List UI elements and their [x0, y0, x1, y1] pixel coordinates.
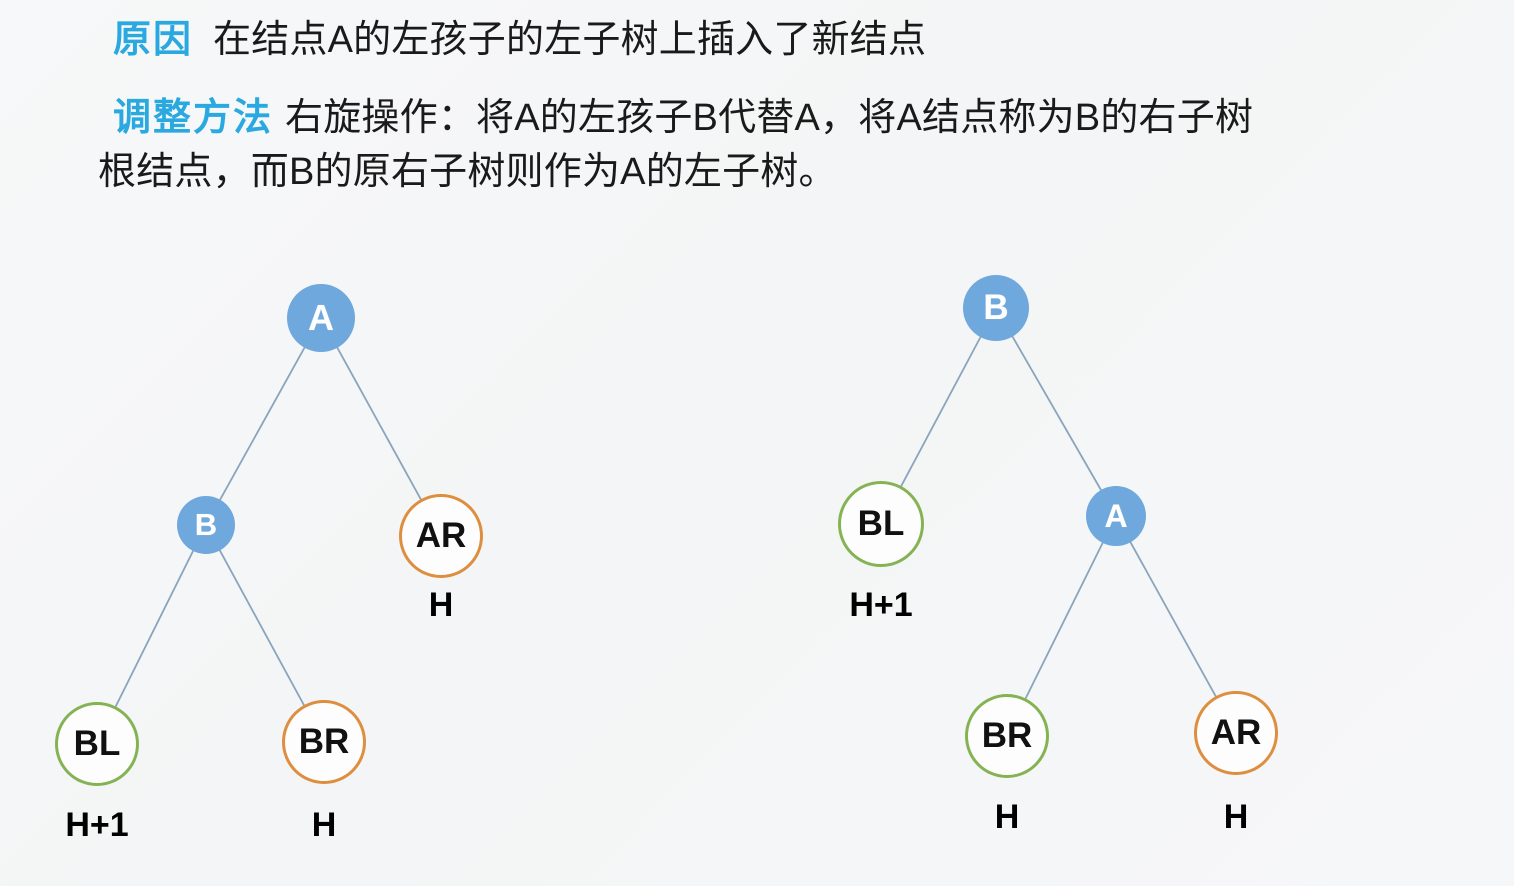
tree-edge [337, 347, 421, 500]
height-label: H+1 [65, 806, 128, 845]
height-label: H [1224, 798, 1249, 837]
tree-node-b[interactable]: B [963, 275, 1029, 341]
tree-node-label: BR [299, 722, 350, 762]
tree-edge [901, 336, 981, 487]
tree-node-bl[interactable]: BL [838, 481, 924, 567]
tree-edge [1025, 542, 1103, 699]
tree-edge [1012, 336, 1102, 491]
slide-text-block: 原因在结点A的左孩子的左子树上插入了新结点 调整方法右旋操作：将A的左孩子B代替… [0, 0, 1514, 215]
tree-node-a[interactable]: A [287, 284, 355, 352]
tree-node-label: B [983, 288, 1008, 328]
tree-node-label: AR [416, 516, 467, 556]
tree-node-label: BL [858, 504, 905, 544]
tree-node-b[interactable]: B [177, 496, 235, 554]
tree-edge [219, 550, 304, 706]
tree-node-label: B [195, 507, 217, 543]
tree-node-label: BR [982, 716, 1033, 756]
tree-node-label: BL [74, 724, 121, 764]
method-line-1: 调整方法右旋操作：将A的左孩子B代替A，将A结点称为B的右子树 [113, 96, 1253, 140]
tree-edge [220, 347, 305, 501]
tree-node-ar[interactable]: AR [1194, 691, 1278, 775]
tree-edge [115, 550, 193, 707]
height-label: H [312, 806, 337, 845]
tree-node-label: A [1104, 498, 1127, 535]
height-label: H [995, 798, 1020, 837]
tree-node-label: A [308, 297, 334, 339]
method-body-line-2: 根结点，而B的原右子树则作为A的左子树。 [98, 151, 837, 193]
tree-node-a[interactable]: A [1086, 486, 1146, 546]
tree-node-label: AR [1211, 713, 1262, 753]
tree-node-br[interactable]: BR [282, 700, 366, 784]
method-body-line-1: 右旋操作：将A的左孩子B代替A，将A结点称为B的右子树 [285, 97, 1253, 139]
reason-body: 在结点A的左孩子的左子树上插入了新结点 [213, 19, 926, 61]
tree-edge [1130, 541, 1216, 697]
reason-keyword: 原因 [113, 19, 193, 61]
tree-node-ar[interactable]: AR [399, 494, 483, 578]
method-line-2: 根结点，而B的原右子树则作为A的左子树。 [98, 150, 837, 194]
reason-line: 原因在结点A的左孩子的左子树上插入了新结点 [113, 18, 926, 62]
method-keyword: 调整方法 [113, 97, 273, 139]
tree-node-br[interactable]: BR [965, 694, 1049, 778]
height-label: H [429, 586, 454, 625]
height-label: H+1 [849, 586, 912, 625]
tree-node-bl[interactable]: BL [55, 702, 139, 786]
